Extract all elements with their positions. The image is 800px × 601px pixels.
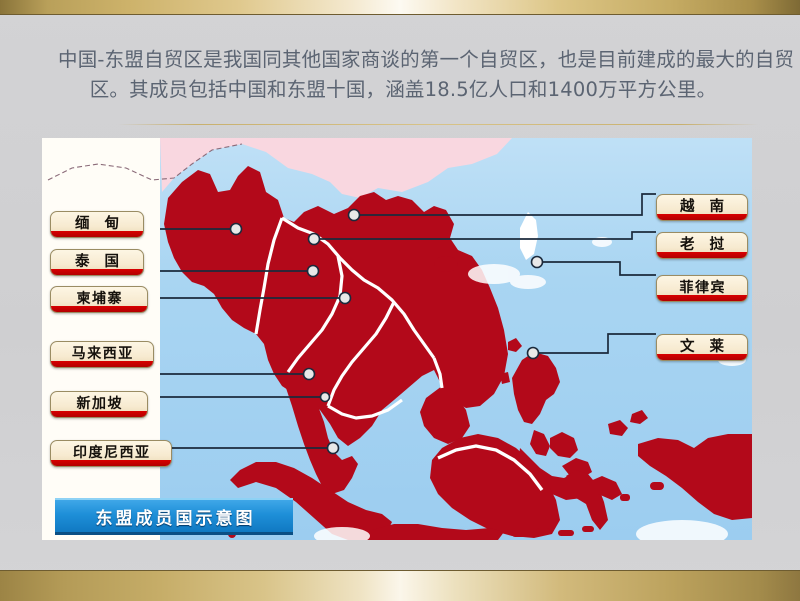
label-singapore-text: 新加坡 [75,393,123,413]
label-philippines[interactable]: 菲律宾 [656,275,748,302]
marker-indonesia [328,443,339,454]
label-brunei-text: 文 莱 [675,335,729,356]
label-malaysia-text: 马来西亚 [70,343,134,363]
label-vietnam[interactable]: 越 南 [656,194,748,221]
label-vietnam-text: 越 南 [675,195,729,216]
label-brunei[interactable]: 文 莱 [656,334,748,361]
marker-myanmar [231,224,242,235]
map-graphic [42,138,752,540]
slide-canvas: 中国-东盟自贸区是我国同其他国家商谈的第一个自贸区，也是目前建成的最大的自贸 区… [0,0,800,601]
label-indonesia-text: 印度尼西亚 [72,442,151,462]
marker-thailand [308,266,319,277]
label-thailand-text: 泰 国 [70,250,124,271]
marker-vietnam [349,210,360,221]
label-myanmar[interactable]: 缅 甸 [50,211,144,238]
label-malaysia[interactable]: 马来西亚 [50,341,154,368]
page-title: 中国-东盟自贸区是我国同其他国家商谈的第一个自贸区，也是目前建成的最大的自贸 区… [58,45,748,105]
label-myanmar-text: 缅 甸 [70,212,124,233]
label-cambodia-text: 柬埔寨 [75,288,123,308]
headline-line-1: 中国-东盟自贸区是我国同其他国家商谈的第一个自贸区，也是目前建成的最大的自贸 [58,45,748,75]
label-laos-text: 老 挝 [675,233,729,254]
label-laos[interactable]: 老 挝 [656,232,748,259]
label-thailand[interactable]: 泰 国 [50,249,144,276]
map-title-banner: 东盟成员国示意图 [55,498,293,535]
marker-malaysia [304,369,315,380]
marker-philippines [532,257,543,268]
label-cambodia[interactable]: 柬埔寨 [50,286,148,313]
marker-singapore [321,393,330,402]
headline-line-2: 区。其成员包括中国和东盟十国，涵盖18.5亿人口和1400万平方公里。 [58,75,748,105]
bottom-gold-bar [0,570,800,601]
map-image [42,138,752,540]
label-singapore[interactable]: 新加坡 [50,391,148,418]
hainan-island [434,256,458,272]
marker-laos [309,234,320,245]
map-title-banner-text: 东盟成员国示意图 [93,504,256,529]
marker-cambodia [340,293,351,304]
top-gold-bar [0,0,800,15]
marker-brunei [528,348,539,359]
gold-divider [118,124,758,125]
label-philippines-text: 菲律宾 [678,277,726,297]
left-gutter [42,138,160,540]
label-indonesia[interactable]: 印度尼西亚 [50,440,172,467]
